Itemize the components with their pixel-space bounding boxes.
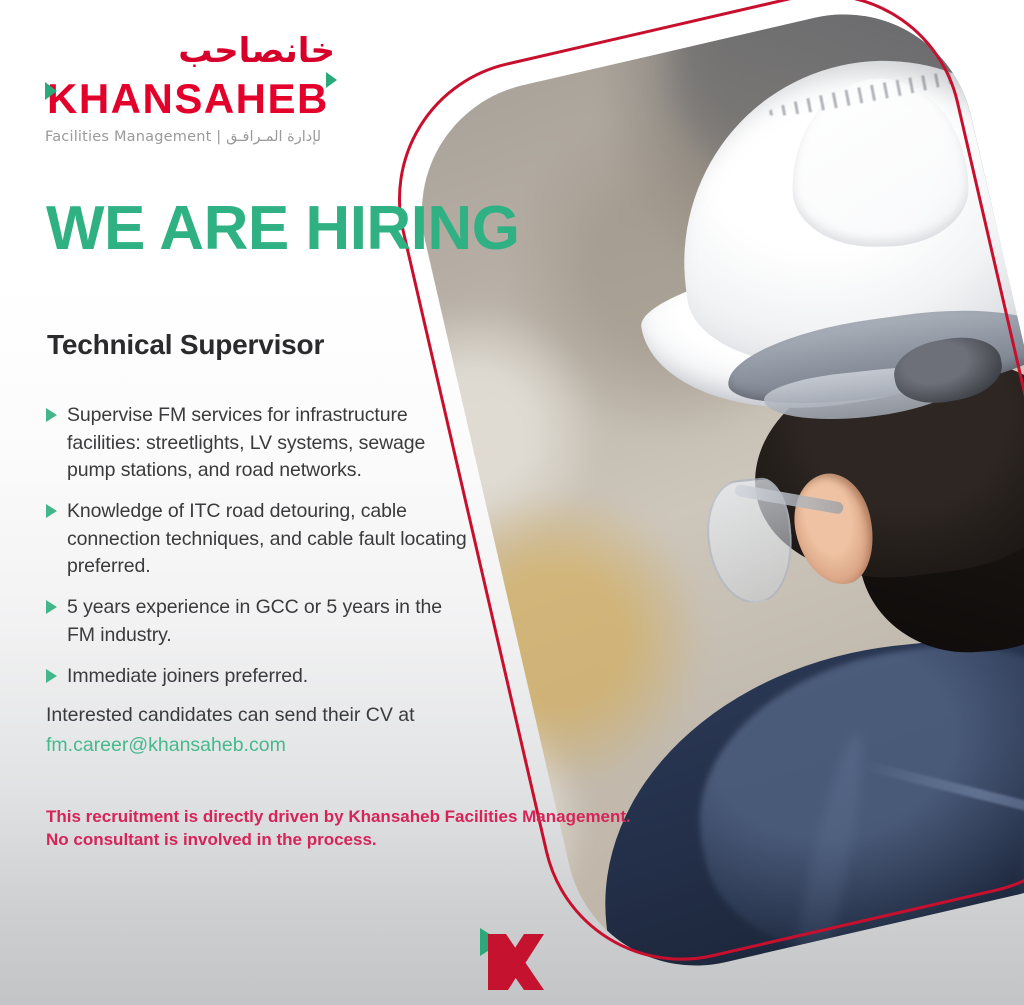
hiring-poster: خانصاحب KHANSAHEB Facilities Management …	[0, 0, 1024, 1005]
email-link[interactable]: fm.career@khansaheb.com	[46, 732, 286, 759]
logo-arabic-wordmark: خانصاحب	[45, 34, 335, 76]
cta-text: Interested candidates can send their CV …	[46, 702, 516, 729]
hair-side	[850, 413, 1024, 660]
background-machinery-shadow	[673, 0, 1024, 226]
white-hard-hat-icon	[661, 38, 1024, 385]
shirt-shoulder-highlight	[675, 616, 1024, 986]
list-item: Supervise FM services for infrastructure…	[44, 402, 474, 485]
list-item: 5 years experience in GCC or 5 years in …	[44, 594, 474, 649]
disclaimer-line-1: This recruitment is directly driven by K…	[46, 806, 726, 829]
triangle-bullet-icon	[46, 504, 57, 518]
green-triangle-icon	[45, 82, 57, 100]
disclaimer-line-2: No consultant is involved in the process…	[46, 829, 726, 852]
triangle-bullet-icon	[46, 408, 57, 422]
list-item: Immediate joiners preferred.	[44, 663, 474, 691]
safety-glasses-arm	[734, 484, 844, 515]
content-column: خانصاحب KHANSAHEB Facilities Management …	[0, 0, 560, 1005]
logo-wordmark: KHANSAHEB	[45, 78, 335, 120]
hard-hat-suspension-band	[722, 295, 1024, 418]
list-item-text: Knowledge of ITC road detouring, cable c…	[67, 500, 467, 577]
hard-hat-crest	[791, 77, 970, 248]
hard-hat-strap	[762, 361, 966, 428]
hard-hat-vents	[768, 65, 975, 120]
list-item-text: Supervise FM services for infrastructure…	[67, 404, 425, 481]
logo-tagline: Facilities Management | لإدارة المـرافـق	[45, 129, 335, 145]
shirt-fold	[777, 731, 875, 992]
list-item: Knowledge of ITC road detouring, cable c…	[44, 498, 474, 581]
page-title: WE ARE HIRING	[46, 198, 519, 260]
list-item-text: 5 years experience in GCC or 5 years in …	[67, 596, 442, 646]
safety-glasses-icon	[702, 475, 799, 607]
khansaheb-k-monogram-icon	[472, 920, 552, 996]
hard-hat-brim	[635, 223, 1024, 434]
recruitment-disclaimer: This recruitment is directly driven by K…	[46, 806, 726, 852]
navy-uniform-shirt	[581, 607, 1024, 992]
logo-wordmark-text: KHANSAHEB	[47, 75, 329, 122]
triangle-bullet-icon	[46, 600, 57, 614]
hard-hat-ratchet-dial	[889, 330, 1006, 410]
shirt-seam	[862, 760, 1024, 852]
job-title: Technical Supervisor	[47, 329, 324, 361]
khansaheb-logo: خانصاحب KHANSAHEB Facilities Management …	[45, 34, 335, 145]
hair	[742, 340, 1024, 594]
triangle-bullet-icon	[46, 669, 57, 683]
shirt-fold	[1010, 691, 1024, 992]
ear	[785, 467, 883, 592]
neck	[793, 500, 1024, 783]
list-item-text: Immediate joiners preferred.	[67, 665, 308, 687]
call-to-action: Interested candidates can send their CV …	[46, 702, 516, 760]
requirements-list: Supervise FM services for infrastructure…	[44, 402, 474, 703]
